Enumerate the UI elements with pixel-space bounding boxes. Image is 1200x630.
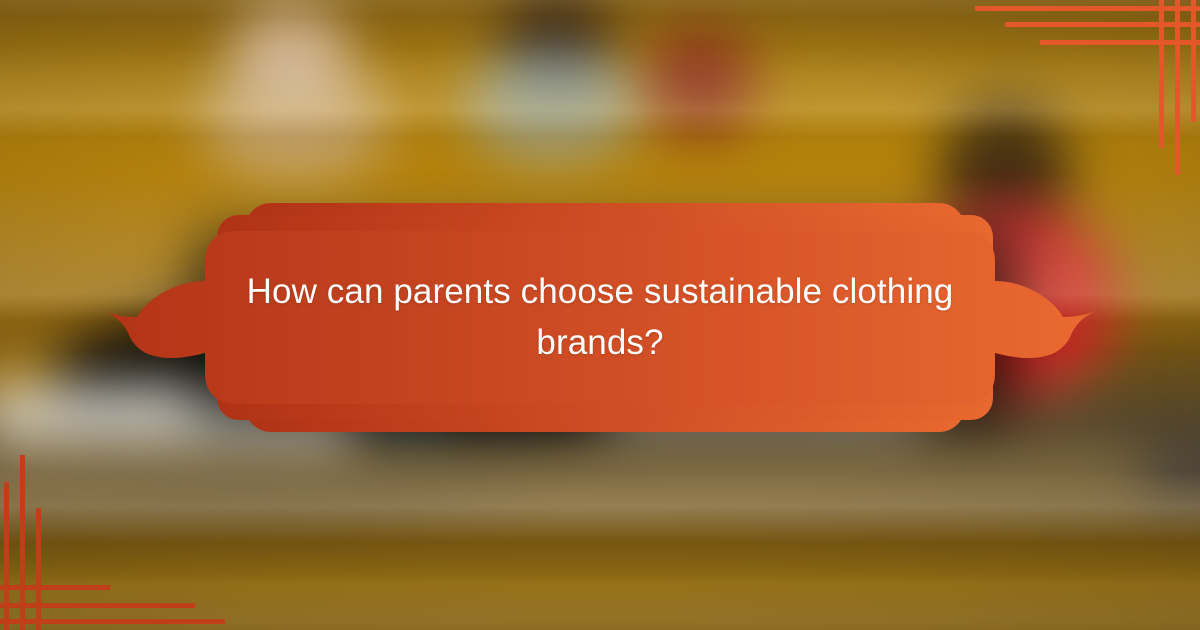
accent-horizontal-line xyxy=(1005,22,1200,27)
accent-horizontal-line xyxy=(0,603,195,608)
accent-vertical-line xyxy=(1191,0,1196,122)
badge-question-text: How can parents choose sustainable cloth… xyxy=(225,195,975,440)
accent-horizontal-line xyxy=(0,585,110,590)
accent-vertical-line xyxy=(4,482,9,630)
accent-vertical-line xyxy=(36,508,41,630)
accent-horizontal-line xyxy=(975,6,1200,11)
social-card: How can parents choose sustainable cloth… xyxy=(0,0,1200,630)
question-badge: How can parents choose sustainable cloth… xyxy=(105,195,1095,440)
accent-vertical-line xyxy=(20,455,25,630)
corner-accent-bottom-left xyxy=(0,440,170,630)
accent-vertical-line xyxy=(1159,0,1164,148)
corner-accent-top-right xyxy=(1030,0,1200,190)
accent-horizontal-line xyxy=(0,619,225,624)
accent-vertical-line xyxy=(1175,0,1180,175)
